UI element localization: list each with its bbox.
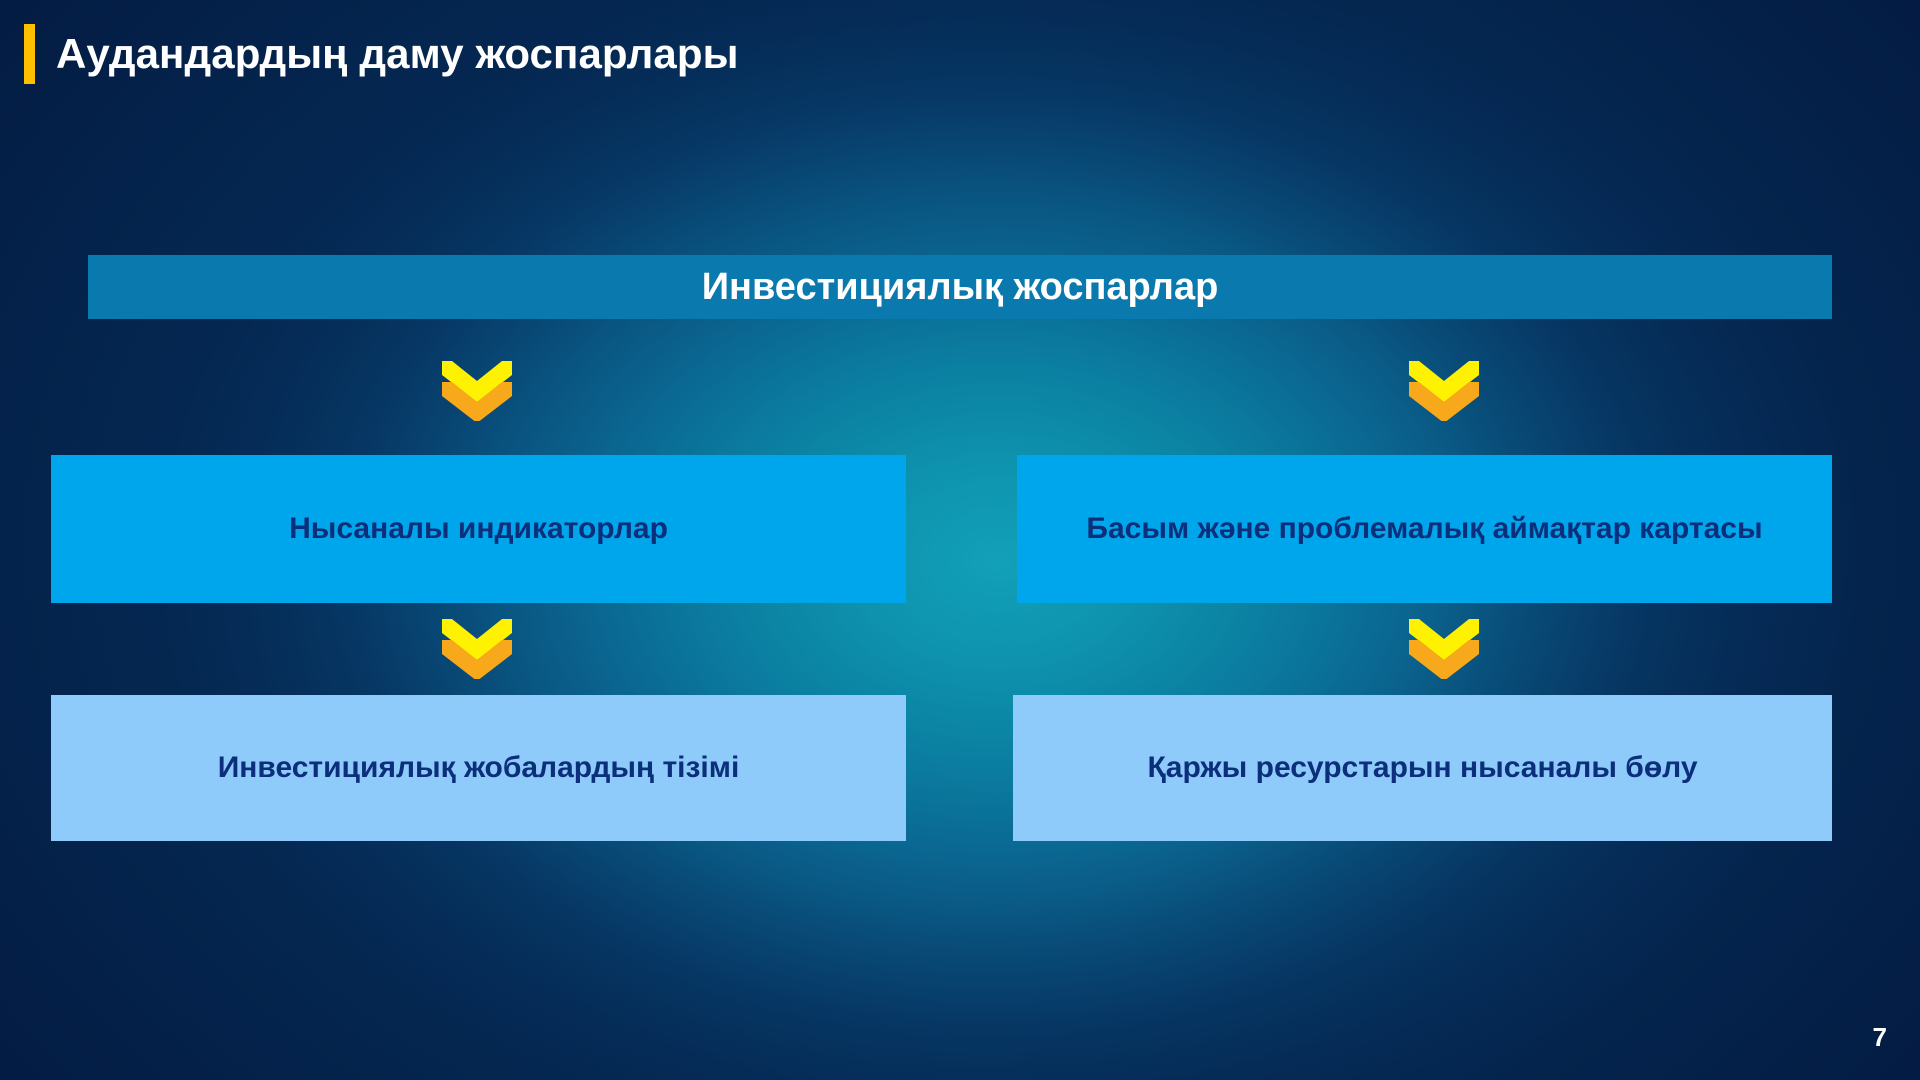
- page-title: Аудандардың даму жоспарлары: [56, 24, 739, 84]
- box-label: Нысаналы индикаторлар: [289, 510, 668, 548]
- double-chevron-down-icon: [442, 361, 512, 421]
- box-target-indicators[interactable]: Нысаналы индикаторлар: [51, 455, 906, 603]
- banner-label: Инвестициялық жоспарлар: [702, 266, 1219, 309]
- box-label: Қаржы ресурстарын нысаналы бөлу: [1147, 749, 1697, 787]
- box-label: Басым және проблемалық аймақтар картасы: [1086, 510, 1762, 548]
- box-priority-problem-areas-map[interactable]: Басым және проблемалық аймақтар картасы: [1017, 455, 1832, 603]
- banner-investment-plans: Инвестициялық жоспарлар: [88, 255, 1832, 319]
- page-number: 7: [1873, 1022, 1887, 1053]
- box-label: Инвестициялық жобалардың тізімі: [218, 749, 740, 787]
- box-investment-projects-list[interactable]: Инвестициялық жобалардың тізімі: [51, 695, 906, 841]
- box-targeted-allocation-financial-resources[interactable]: Қаржы ресурстарын нысаналы бөлу: [1013, 695, 1832, 841]
- double-chevron-down-icon: [442, 619, 512, 679]
- slide-canvas: Аудандардың даму жоспарлары Инвестициялы…: [0, 0, 1920, 1080]
- double-chevron-down-icon: [1409, 619, 1479, 679]
- double-chevron-down-icon: [1409, 361, 1479, 421]
- title-accent-bar: [24, 24, 35, 84]
